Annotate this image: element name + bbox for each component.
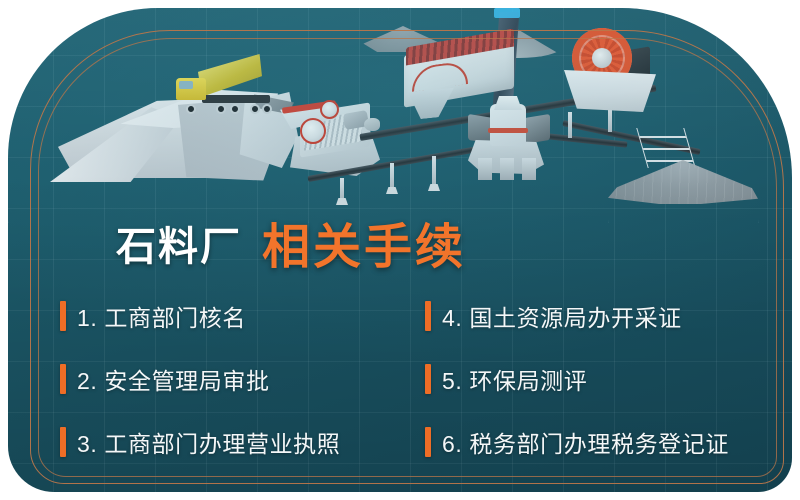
bullet-bar-icon — [60, 301, 66, 331]
truck-wheel-icon — [186, 104, 196, 114]
list-item-label: 3. 工商部门办理营业执照 — [77, 425, 340, 459]
bullet-bar-icon — [60, 427, 66, 457]
truck-wheel-icon — [230, 104, 240, 114]
vsi-crusher-foot-icon — [478, 158, 492, 180]
vsi-crusher-foot-icon — [522, 158, 536, 180]
conveyor-foot-icon — [386, 187, 398, 194]
list-item[interactable]: 1. 工商部门核名 — [60, 284, 425, 347]
title-primary: 石料厂 — [116, 214, 242, 272]
conveyor-leg-icon — [568, 112, 572, 138]
truck-wheel-icon — [262, 104, 272, 114]
list-item[interactable]: 2. 安全管理局审批 — [60, 347, 425, 410]
screen-tower-cap-icon — [494, 8, 520, 18]
vsi-crusher-foot-icon — [500, 158, 514, 180]
stockpile-texture-icon — [608, 160, 758, 204]
list-item-label: 5. 环保局测评 — [442, 362, 587, 396]
conveyor-leg-icon — [340, 178, 344, 200]
title-highlight: 相关手续 — [262, 207, 466, 277]
sand-washer-hub-icon — [592, 48, 612, 68]
crusher-motor-icon — [364, 118, 380, 131]
teal-panel: 石料厂 相关手续 1. 工商部门核名 4. 国土资源局办开采证 2. 安全管理局… — [8, 8, 792, 492]
vsi-crusher-body-icon — [490, 104, 526, 146]
bullet-bar-icon — [425, 301, 431, 331]
flywheel-icon — [320, 100, 339, 119]
bullet-bar-icon — [425, 427, 431, 457]
truck-wheel-icon — [250, 104, 260, 114]
bullet-bar-icon — [60, 364, 66, 394]
list-item-label: 4. 国土资源局办开采证 — [442, 299, 682, 333]
page-title: 石料厂 相关手续 — [116, 204, 466, 274]
list-item-label: 2. 安全管理局审批 — [77, 362, 270, 396]
conveyor-leg-icon — [390, 163, 394, 189]
procedure-list: 1. 工商部门核名 4. 国土资源局办开采证 2. 安全管理局审批 5. 环保局… — [60, 284, 760, 473]
bullet-bar-icon — [425, 364, 431, 394]
conveyor-leg-icon — [432, 156, 436, 186]
truck-window-icon — [179, 81, 193, 89]
list-item[interactable]: 5. 环保局测评 — [425, 347, 760, 410]
list-item-label: 6. 税务部门办理税务登记证 — [442, 425, 729, 459]
list-item[interactable]: 4. 国土资源局办开采证 — [425, 284, 760, 347]
dump-truck-icon — [176, 68, 272, 114]
list-item-label: 1. 工商部门核名 — [77, 299, 246, 333]
conveyor-foot-icon — [428, 184, 440, 191]
flywheel-icon — [300, 118, 326, 144]
list-item[interactable]: 6. 税务部门办理税务登记证 — [425, 410, 760, 473]
truck-chassis-icon — [202, 95, 270, 103]
sand-washer-tub-icon — [564, 70, 656, 112]
banner-stage: 石料厂 相关手续 1. 工商部门核名 4. 国土资源局办开采证 2. 安全管理局… — [0, 0, 800, 500]
list-item[interactable]: 3. 工商部门办理营业执照 — [60, 410, 425, 473]
vibrating-screen-chute-icon — [408, 88, 454, 121]
vsi-crusher-band-icon — [488, 128, 528, 133]
truck-wheel-icon — [216, 104, 226, 114]
